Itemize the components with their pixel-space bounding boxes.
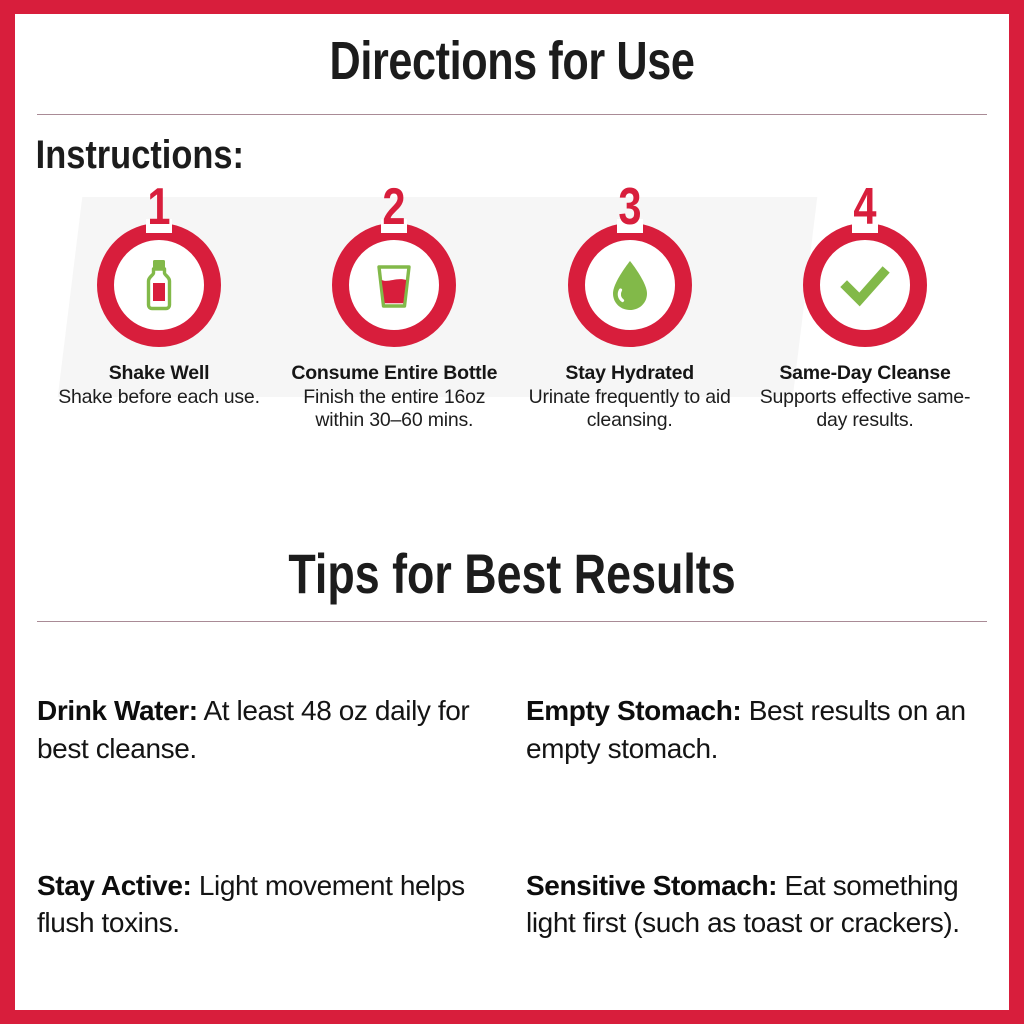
step-title-3: Stay Hydrated [514,362,746,385]
tip-label: Sensitive Stomach: [526,870,777,901]
tip-label: Empty Stomach: [526,695,741,726]
step-title-1: Shake Well [43,362,275,385]
water-drop-icon [568,223,692,347]
step-number-1: 1 [107,181,211,233]
steps-row: 1 Shake Well Shake before each use. [15,183,1009,434]
step-item-2: 2 Consume Entire Bottle Finish the entir… [278,183,510,434]
step-item-4: 4 Same-Day Cleanse Supports effective sa… [749,183,981,434]
step-desc-3: Urinate frequently to aid cleansing. [514,386,746,434]
page-title: Directions for Use [114,14,909,90]
card-inner: Directions for Use Instructions: 1 [15,14,1009,1010]
tips-section-title: Tips for Best Results [114,473,909,604]
tips-grid: Drink Water: At least 48 oz daily for be… [15,622,1009,969]
step-desc-1: Shake before each use. [43,386,275,410]
instructions-heading: Instructions: [15,115,870,177]
step-number-4: 4 [813,181,917,233]
instructions-steps-section: 1 Shake Well Shake before each use. [15,183,1009,473]
bottle-icon [97,223,221,347]
step-desc-4: Supports effective same-day results. [749,386,981,434]
step-number-3: 3 [578,181,682,233]
step-number-2: 2 [342,181,446,233]
tip-label: Stay Active: [37,870,191,901]
step-badge-2: 2 [329,183,459,358]
checkmark-icon [803,223,927,347]
step-item-1: 1 Shake Well Shake before each use. [43,183,275,434]
tip-item-empty-stomach: Empty Stomach: Best results on an empty … [526,692,987,766]
tip-item-stay-active: Stay Active: Light movement helps flush … [37,867,498,941]
tip-label: Drink Water: [37,695,198,726]
step-desc-2: Finish the entire 16oz within 30–60 mins… [278,386,510,434]
tip-item-sensitive-stomach: Sensitive Stomach: Eat something light f… [526,867,987,941]
step-badge-3: 3 [565,183,695,358]
step-badge-4: 4 [800,183,930,358]
step-item-3: 3 Stay Hydrated Urinate frequently to ai… [514,183,746,434]
step-badge-1: 1 [94,183,224,358]
directions-for-use-card: Directions for Use Instructions: 1 [0,0,1024,1024]
step-title-2: Consume Entire Bottle [278,362,510,385]
step-title-4: Same-Day Cleanse [749,362,981,385]
tip-item-drink-water: Drink Water: At least 48 oz daily for be… [37,692,498,766]
drinking-glass-icon [332,223,456,347]
